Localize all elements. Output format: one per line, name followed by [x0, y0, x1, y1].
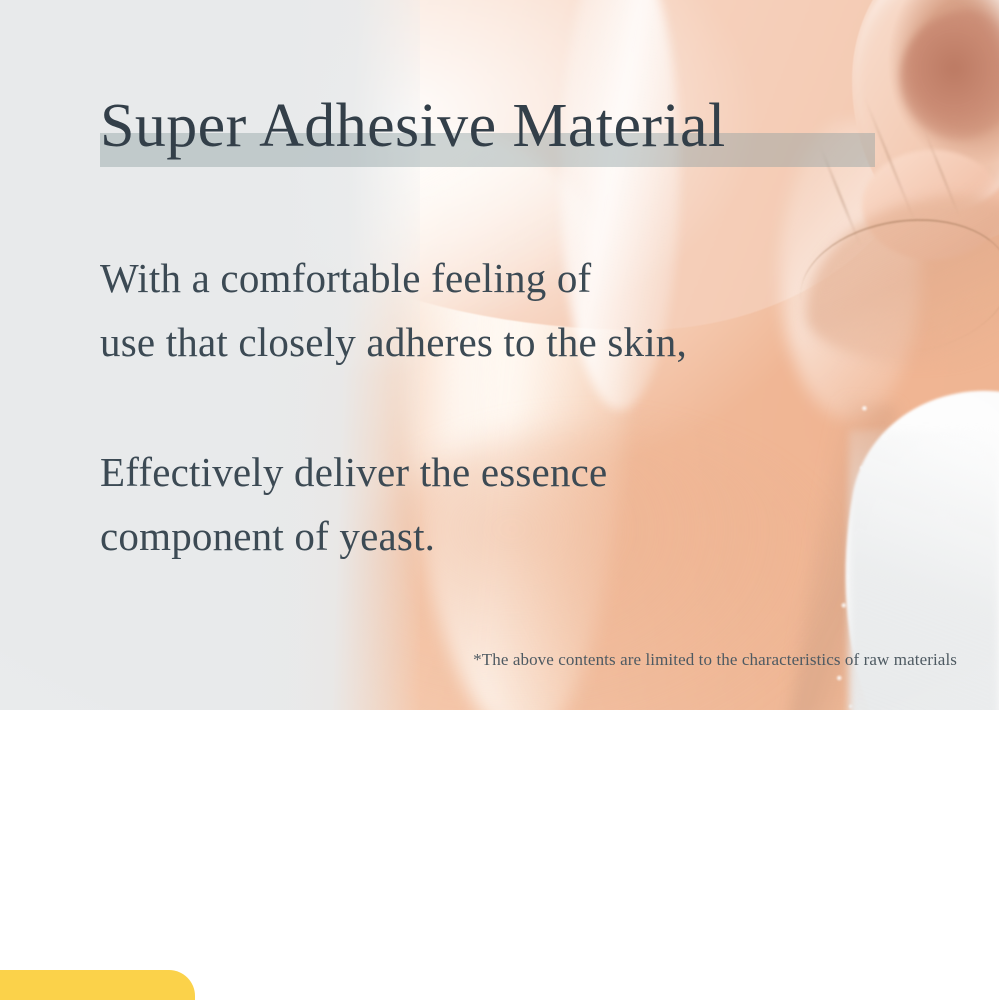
hero-title: Super Adhesive Material	[100, 82, 726, 170]
product-detail-page: Super Adhesive Material With a comfortab…	[0, 0, 999, 1000]
hero-text-overlay: Super Adhesive Material With a comfortab…	[0, 0, 999, 710]
hero-body-text: With a comfortable feeling of use that c…	[100, 246, 930, 568]
white-spacer-section	[0, 710, 999, 1000]
hero-banner: Super Adhesive Material With a comfortab…	[0, 0, 999, 710]
hero-paragraph-2: Effectively deliver the essence componen…	[100, 440, 930, 568]
paragraph-spacer	[100, 374, 930, 440]
hero-title-group: Super Adhesive Material	[100, 82, 726, 170]
hero-disclaimer-note: *The above contents are limited to the c…	[0, 648, 957, 672]
yellow-accent-tab	[0, 970, 195, 1000]
hero-paragraph-1: With a comfortable feeling of use that c…	[100, 246, 930, 374]
